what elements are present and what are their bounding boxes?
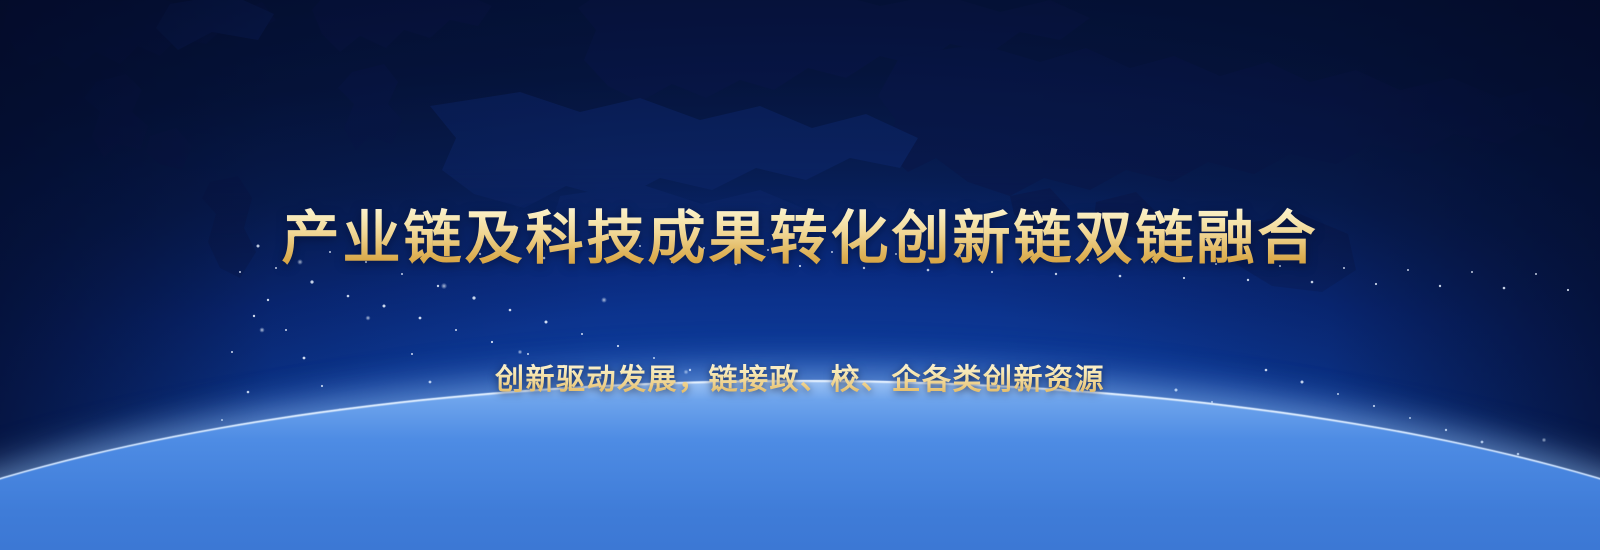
hero-banner: 产业链及科技成果转化创新链双链融合 创新驱动发展，链接政、校、企各类创新资源 — [0, 0, 1600, 550]
banner-title: 产业链及科技成果转化创新链双链融合 — [0, 205, 1600, 271]
banner-content: 产业链及科技成果转化创新链双链融合 创新驱动发展，链接政、校、企各类创新资源 — [0, 0, 1600, 550]
banner-subtitle: 创新驱动发展，链接政、校、企各类创新资源 — [0, 359, 1600, 399]
